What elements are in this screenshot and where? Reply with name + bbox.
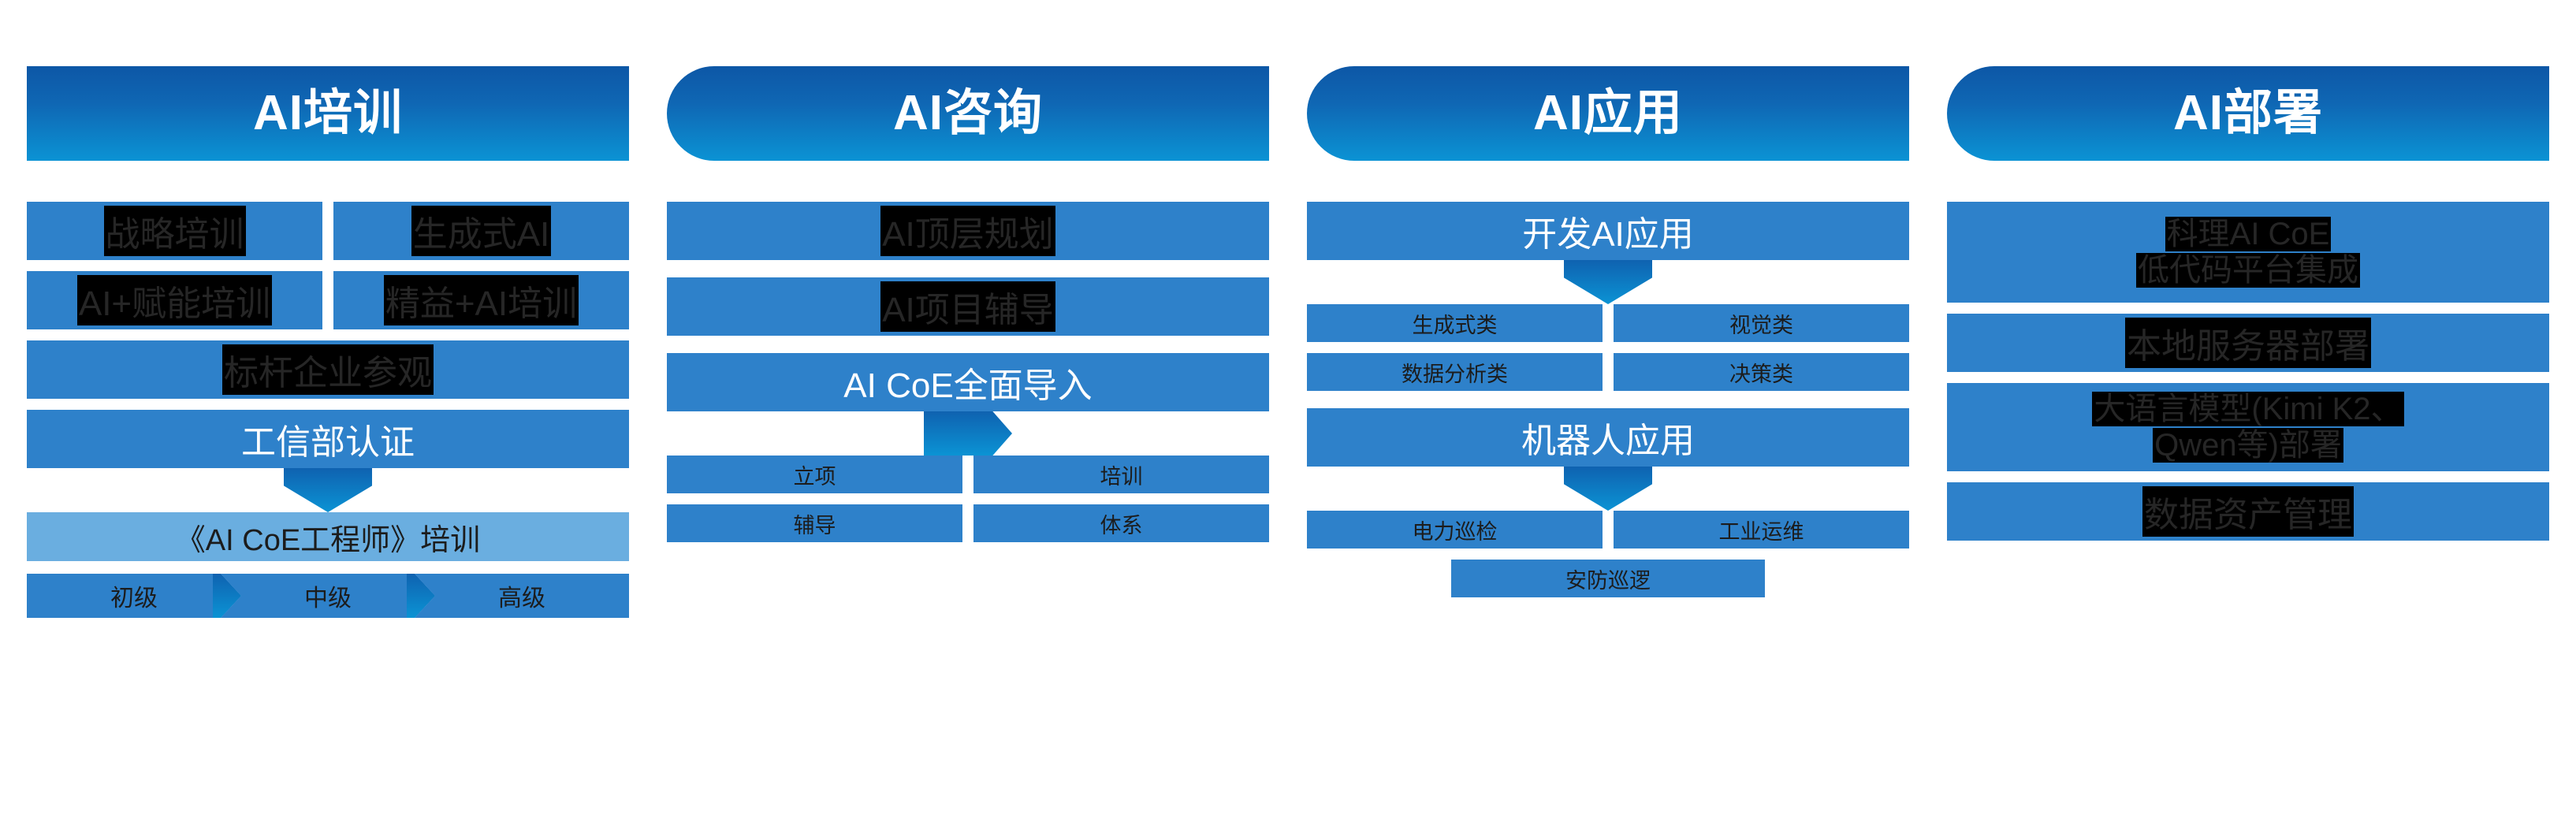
card-security-patrol[interactable]: 安防巡逻 [1451, 560, 1764, 597]
card-label: 视觉类 [1729, 308, 1793, 339]
card-training[interactable]: 培训 [973, 456, 1269, 493]
card-generative-ai[interactable]: 生成式AI [333, 202, 629, 260]
row-consulting-pair-2: 辅导 体系 [667, 504, 1269, 542]
card-decision-type[interactable]: 决策类 [1614, 353, 1909, 391]
card-label: 标杆企业参观 [222, 344, 434, 395]
card-power-inspection[interactable]: 电力巡检 [1307, 511, 1603, 549]
column-header-label: AI咨询 [893, 89, 1043, 138]
card-label: AI顶层规划 [880, 206, 1055, 256]
card-label: AI CoE全面导入 [843, 357, 1092, 407]
row-robot-pair-2: 安防巡逻 [1307, 560, 1909, 597]
column-body-ai-training: 战略培训 生成式AI AI+赋能培训 精益+AI培训 标杆企业参观 工信部认证 [27, 202, 629, 618]
card-label: 工信部认证 [241, 414, 415, 464]
card-label: 决策类 [1729, 357, 1793, 388]
row-training-pair-2: AI+赋能培训 精益+AI培训 [27, 271, 629, 329]
row-training-pair-1: 战略培训 生成式AI [27, 202, 629, 260]
ai-service-overview-board: AI培训 战略培训 生成式AI AI+赋能培训 精益+AI培训 [0, 0, 2576, 833]
card-label: 《AI CoE工程师》培训 [176, 515, 480, 559]
card-llm-deployment[interactable]: 大语言模型(Kimi K2、 Qwen等)部署 [1947, 383, 2549, 471]
card-label: 数据分析类 [1402, 357, 1508, 388]
column-ai-deployment: AI部署 科理AI CoE 低代码平台集成 本地服务器部署 大语言模型(Kimi… [1947, 0, 2549, 833]
step-label: 初级 [110, 578, 158, 613]
card-project-initiation[interactable]: 立项 [667, 456, 962, 493]
card-label: 培训 [1100, 459, 1143, 490]
card-label: 机器人应用 [1521, 412, 1695, 463]
step-label: 高级 [498, 578, 545, 613]
card-label: 战略培训 [104, 206, 246, 256]
card-coaching[interactable]: 辅导 [667, 504, 962, 542]
column-header-ai-consulting[interactable]: AI咨询 [667, 66, 1269, 161]
row-consulting-pair-1: 立项 培训 [667, 456, 1269, 493]
card-ai-project-coaching[interactable]: AI项目辅导 [667, 277, 1269, 336]
card-data-asset-management[interactable]: 数据资产管理 [1947, 482, 2549, 541]
card-data-analysis-type[interactable]: 数据分析类 [1307, 353, 1603, 391]
card-label: 生成式类 [1413, 308, 1498, 339]
card-lean-ai-training[interactable]: 精益+AI培训 [333, 271, 629, 329]
card-benchmark-enterprise-visit[interactable]: 标杆企业参观 [27, 340, 629, 399]
card-miit-certification[interactable]: 工信部认证 [27, 410, 629, 468]
level-step-row: 初级 中级 高级 [27, 574, 629, 618]
connector-chevron-application-1 [1307, 260, 1909, 304]
card-label: AI项目辅导 [880, 281, 1055, 332]
card-label: 辅导 [794, 508, 836, 539]
column-header-ai-application[interactable]: AI应用 [1307, 66, 1909, 161]
card-label: 数据资产管理 [2142, 486, 2354, 537]
card-robot-application[interactable]: 机器人应用 [1307, 408, 1909, 467]
card-generative-type[interactable]: 生成式类 [1307, 304, 1603, 342]
card-ai-enablement-training[interactable]: AI+赋能培训 [27, 271, 322, 329]
row-robot-pair-1: 电力巡检 工业运维 [1307, 511, 1909, 549]
card-system[interactable]: 体系 [973, 504, 1269, 542]
connector-chevron-training [27, 468, 629, 512]
step-level-intermediate[interactable]: 中级 [221, 574, 435, 618]
step-label: 中级 [304, 578, 352, 613]
card-label: AI+赋能培训 [77, 275, 272, 325]
card-label: 开发AI应用 [1522, 206, 1694, 256]
connector-chevron-consulting [667, 411, 1269, 456]
column-header-ai-training[interactable]: AI培训 [27, 66, 629, 161]
column-ai-application: AI应用 开发AI应用 生成式类 视觉类 数据分析类 [1307, 0, 1909, 833]
card-label: 立项 [794, 459, 836, 490]
column-body-ai-deployment: 科理AI CoE 低代码平台集成 本地服务器部署 大语言模型(Kimi K2、 … [1947, 202, 2549, 541]
card-label: 电力巡检 [1413, 515, 1498, 545]
card-industrial-om[interactable]: 工业运维 [1614, 511, 1909, 549]
column-body-ai-consulting: AI顶层规划 AI项目辅导 AI CoE全面导入 立项 培训 辅导 [667, 202, 1269, 542]
card-local-server-deployment[interactable]: 本地服务器部署 [1947, 314, 2549, 372]
step-level-junior[interactable]: 初级 [27, 574, 241, 618]
card-ai-top-level-planning[interactable]: AI顶层规划 [667, 202, 1269, 260]
column-ai-training: AI培训 战略培训 生成式AI AI+赋能培训 精益+AI培训 [27, 0, 629, 833]
card-label-line-2: Qwen等)部署 [2153, 428, 2343, 463]
column-header-label: AI部署 [2173, 89, 2323, 138]
card-ai-coe-engineer-training[interactable]: 《AI CoE工程师》培训 [27, 512, 629, 561]
column-body-ai-application: 开发AI应用 生成式类 视觉类 数据分析类 决策类 机 [1307, 202, 1909, 597]
card-vision-type[interactable]: 视觉类 [1614, 304, 1909, 342]
card-label: 体系 [1100, 508, 1143, 539]
card-label: 本地服务器部署 [2125, 318, 2371, 368]
step-level-advanced[interactable]: 高级 [415, 574, 629, 618]
card-label: 精益+AI培训 [384, 275, 579, 325]
card-label: 生成式AI [411, 206, 552, 256]
card-label-line-2: 低代码平台集成 [2136, 253, 2360, 288]
card-strategy-training[interactable]: 战略培训 [27, 202, 322, 260]
card-label: 工业运维 [1719, 515, 1804, 545]
column-header-label: AI应用 [1533, 89, 1683, 138]
card-label-line-1: 科理AI CoE [2165, 217, 2332, 251]
card-keli-ai-coe-lowcode-integration[interactable]: 科理AI CoE 低代码平台集成 [1947, 202, 2549, 303]
column-ai-consulting: AI咨询 AI顶层规划 AI项目辅导 AI CoE全面导入 立项 培训 [667, 0, 1269, 833]
card-label-line-1: 大语言模型(Kimi K2、 [2092, 392, 2403, 426]
connector-chevron-application-2 [1307, 467, 1909, 511]
card-label: 安防巡逻 [1565, 563, 1651, 594]
column-header-ai-deployment[interactable]: AI部署 [1947, 66, 2549, 161]
card-ai-coe-full-rollout[interactable]: AI CoE全面导入 [667, 353, 1269, 411]
row-application-pair-2: 数据分析类 决策类 [1307, 353, 1909, 391]
card-develop-ai-application[interactable]: 开发AI应用 [1307, 202, 1909, 260]
row-application-pair-1: 生成式类 视觉类 [1307, 304, 1909, 342]
column-header-label: AI培训 [253, 89, 403, 138]
